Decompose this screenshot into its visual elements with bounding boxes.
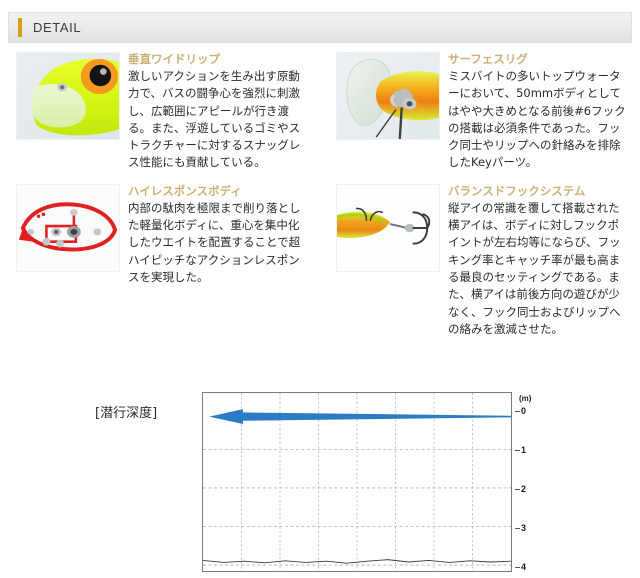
chart-plot-area: (m) 01234 [202, 392, 512, 572]
lure-internal-red-xray-structure-photo [16, 184, 120, 272]
feature-title: ハイレスポンスボディ [128, 184, 308, 199]
feature-body: ミスバイトの多いトップウォーターにおいて、50mmボディとしてはやや大きめとなる… [448, 68, 628, 172]
page-title: DETAIL [33, 20, 81, 35]
chart-y-axis: (m) 01234 [515, 393, 555, 573]
feature-text: サーフェスリグ ミスバイトの多いトップウォーターにおいて、50mmボディとしては… [448, 52, 632, 172]
lure-head-chartreuse-wide-lip-photo [16, 52, 120, 140]
detail-page: DETAIL [0, 0, 640, 578]
y-tick-mark-3 [515, 528, 520, 529]
y-tick-mark-2 [515, 489, 520, 490]
y-tick-label-3: 3 [521, 523, 526, 533]
feature-high-response-body: ハイレスポンスボディ 内部の駄肉を極限まで削り落とした軽量化ボディに、重心を集中… [0, 184, 320, 338]
feature-body: 激しいアクションを生み出す原動力で、バスの闘争心を強烈に刺激し、広範囲にアピール… [128, 68, 308, 172]
feature-surface-rig: サーフェスリグ ミスバイトの多いトップウォーターにおいて、50mmボディとしては… [320, 52, 640, 172]
feature-body: 縦アイの常識を覆して搭載された横アイは、ボディに対しフックポイントが左右均等にな… [448, 200, 628, 338]
lure-body-orange-hook-hardware-photo [336, 52, 440, 140]
feature-balanced-hook-system: バランスドフックシステム 縦アイの常識を覆して搭載された横アイは、ボディに対しフ… [320, 184, 640, 338]
section-header-detail: DETAIL [8, 12, 632, 43]
y-tick-mark-1 [515, 450, 520, 451]
feature-grid: 垂直ワイドリップ 激しいアクションを生み出す原動力で、バスの闘争心を強烈に刺激し… [0, 52, 640, 338]
chart-title: [潜行深度] [95, 392, 215, 421]
feature-text: ハイレスポンスボディ 内部の駄肉を極限まで削り落とした軽量化ボディに、重心を集中… [128, 184, 312, 338]
y-tick-label-1: 1 [521, 445, 526, 455]
feature-body: 内部の駄肉を極限まで削り落とした軽量化ボディに、重心を集中化したウエイトを配置す… [128, 200, 308, 286]
chart-canvas [203, 393, 511, 571]
y-tick-mark-4 [515, 567, 520, 568]
y-tick-label-2: 2 [521, 484, 526, 494]
y-tick-label-4: 4 [521, 562, 526, 572]
diving-depth-chart: [潜行深度] (m) 01234 [0, 392, 640, 578]
feature-vertical-wide-lip: 垂直ワイドリップ 激しいアクションを生み出す原動力で、バスの闘争心を強烈に刺激し… [0, 52, 320, 172]
feature-title: 垂直ワイドリップ [128, 52, 308, 67]
feature-text: バランスドフックシステム 縦アイの常識を覆して搭載された横アイは、ボディに対しフ… [448, 184, 632, 338]
y-tick-label-0: 0 [521, 406, 526, 416]
feature-row: 垂直ワイドリップ 激しいアクションを生み出す原動力で、バスの闘争心を強烈に刺激し… [0, 52, 640, 172]
feature-title: バランスドフックシステム [448, 184, 628, 199]
feature-text: 垂直ワイドリップ 激しいアクションを生み出す原動力で、バスの闘争心を強烈に刺激し… [128, 52, 312, 172]
lure-tail-treble-hook-photo [336, 184, 440, 272]
feature-title: サーフェスリグ [448, 52, 628, 67]
header-accent-bar [18, 18, 22, 37]
y-axis-unit-label: (m) [519, 394, 531, 403]
feature-row: ハイレスポンスボディ 内部の駄肉を極限まで削り落とした軽量化ボディに、重心を集中… [0, 184, 640, 338]
y-tick-mark-0 [515, 411, 520, 412]
